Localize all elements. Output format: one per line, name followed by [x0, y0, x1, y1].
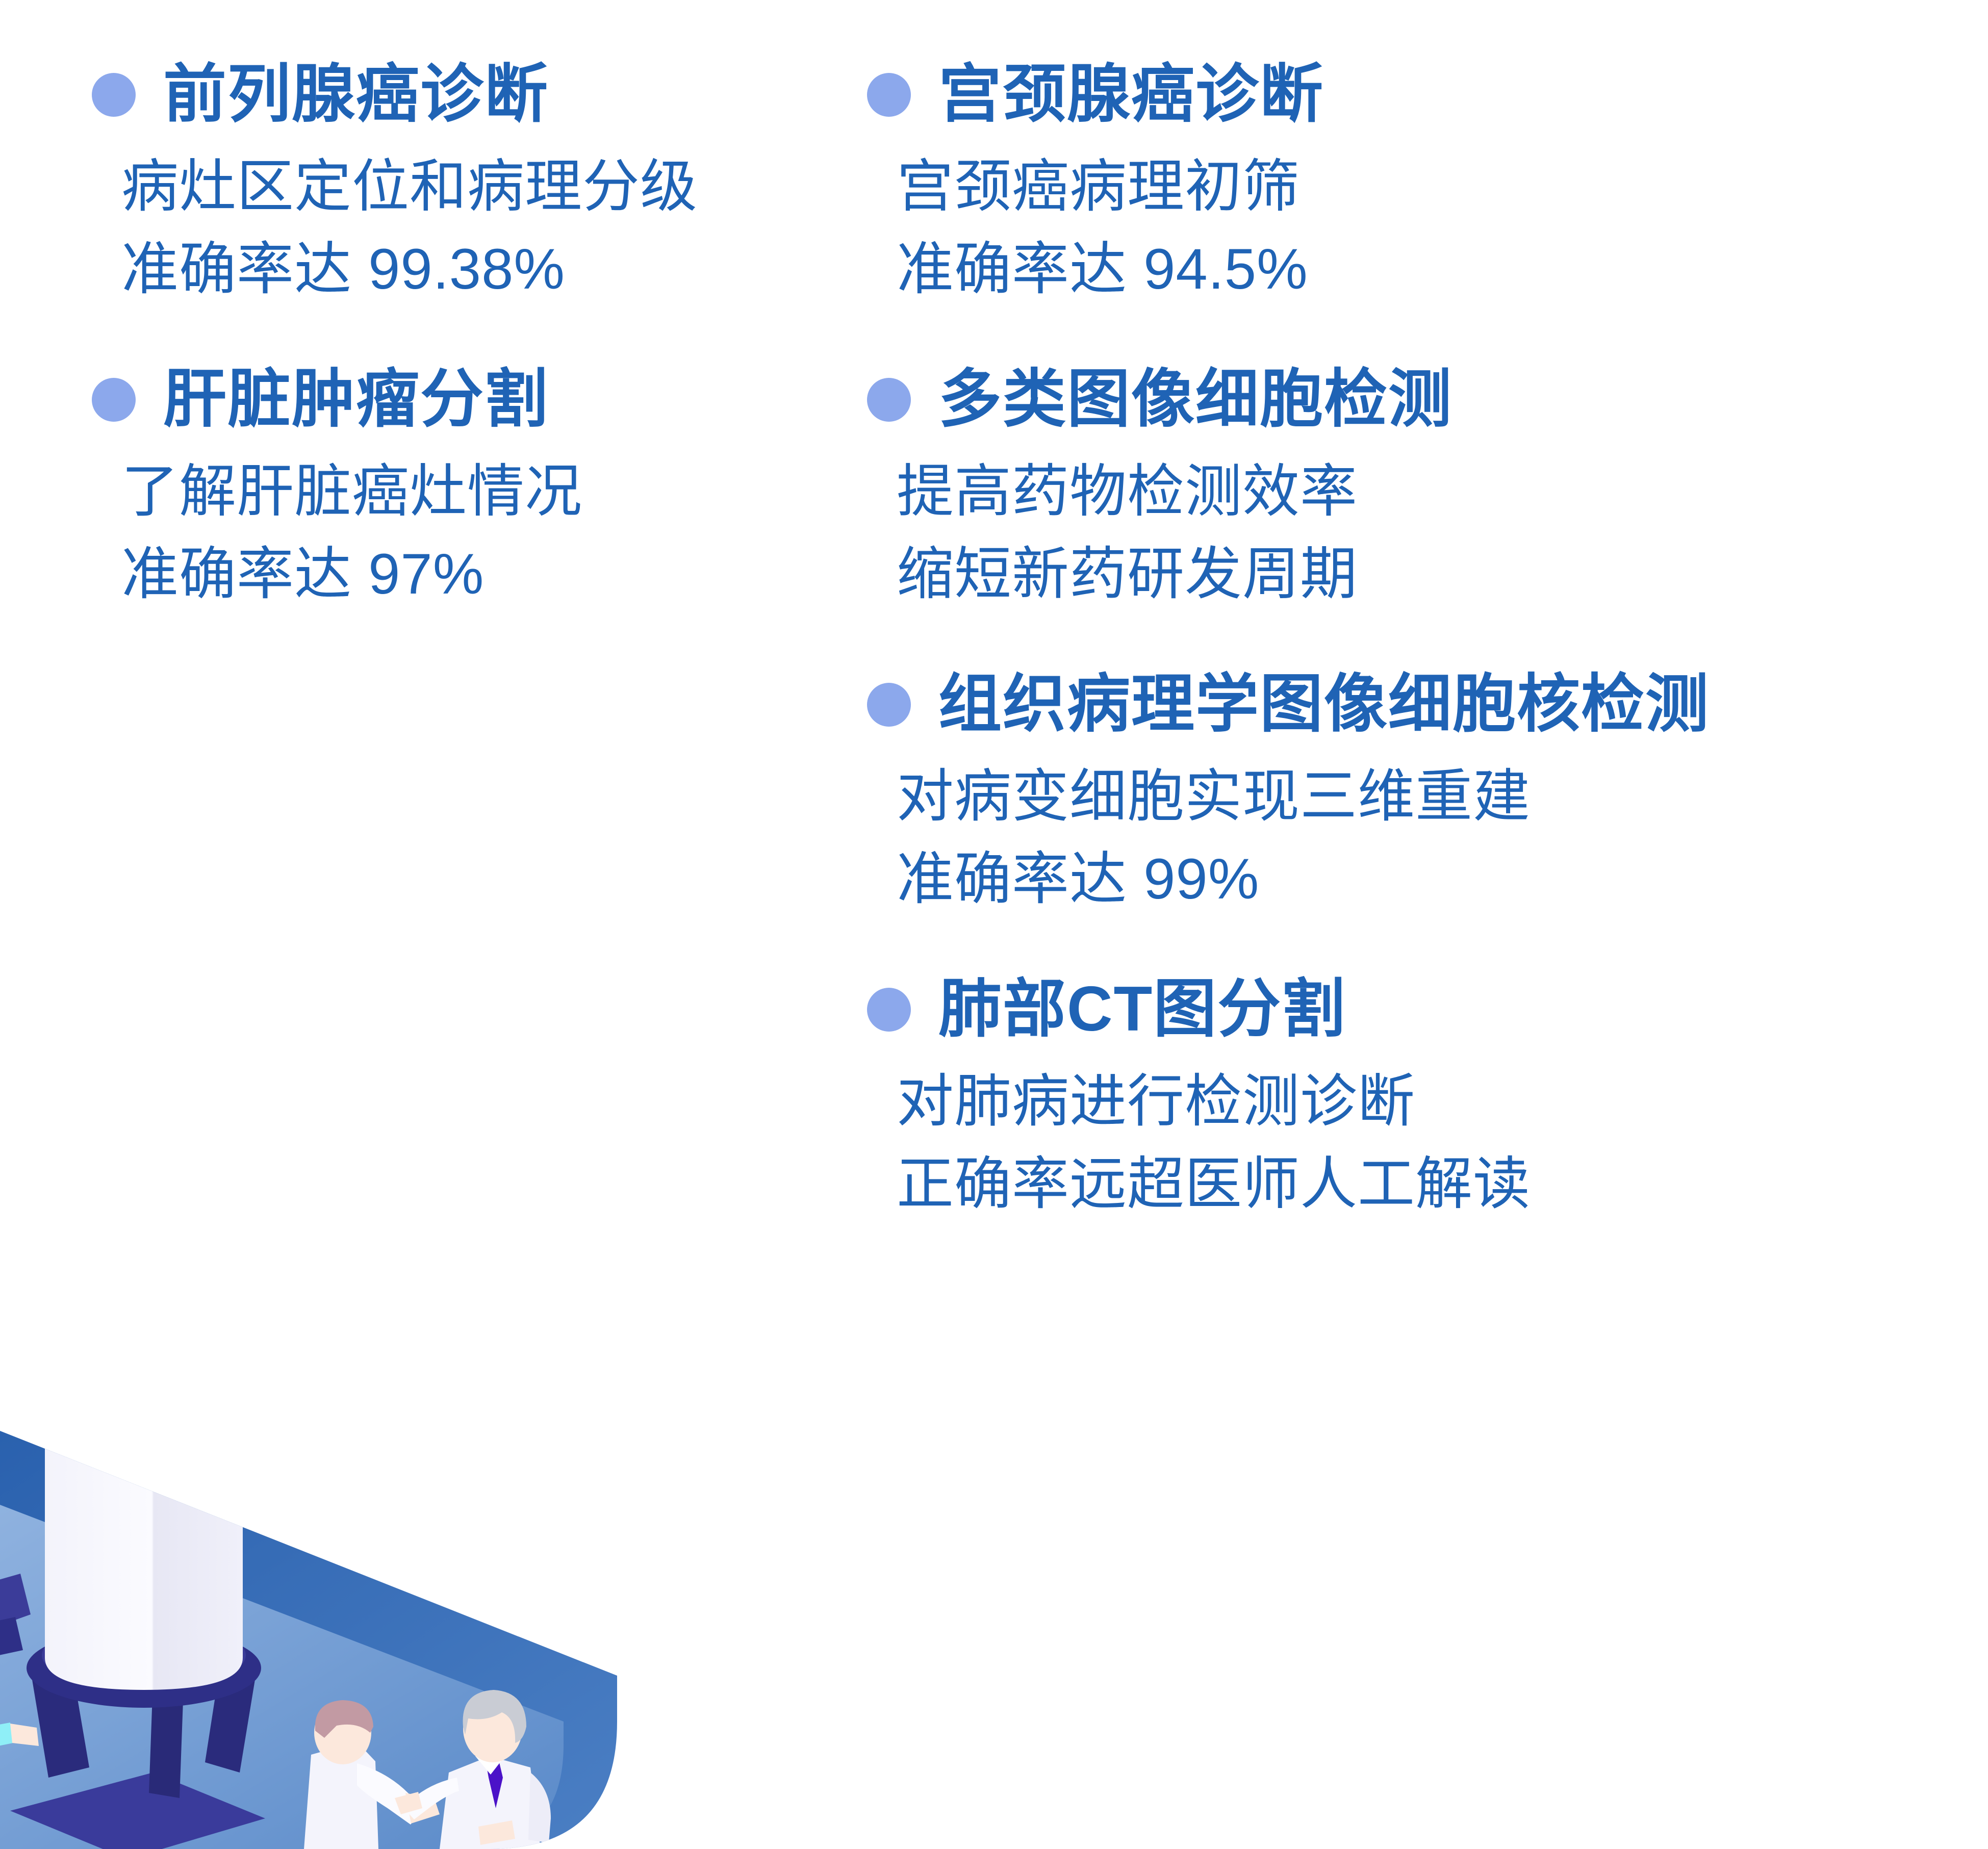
doctor-senior-hair	[463, 1690, 527, 1743]
feature-title: 肺部CT图分割	[938, 976, 1346, 1043]
doctor-senior-hand-right	[478, 1820, 515, 1845]
bullet-dot-icon	[92, 378, 136, 422]
feature-block-prostate: 前列腺癌诊断 病灶区定位和病理分级 准确率达 99.38%	[92, 61, 887, 310]
feature-head: 组织病理学图像细胞核检测	[867, 671, 1979, 738]
microscope-base-plate	[10, 1773, 265, 1849]
angled-blue-panel	[0, 1431, 617, 1849]
bullet-dot-icon	[867, 988, 911, 1032]
panel-light-face	[0, 1505, 564, 1849]
microscope-flange-side	[37, 1327, 251, 1392]
feature-lines: 了解肝脏癌灶情况 准确率达 97%	[121, 450, 887, 615]
feature-head: 肺部CT图分割	[867, 976, 1979, 1043]
panel-dark-band	[0, 1431, 617, 1849]
feature-title: 宫颈腺癌诊断	[938, 61, 1324, 128]
doctor-senior	[395, 1690, 551, 1849]
feature-lines: 对肺病进行检测诊断 正确率远超医师人工解读	[897, 1060, 1979, 1225]
doctor-senior-arm-right	[528, 1773, 551, 1843]
feature-line: 病灶区定位和病理分级	[121, 145, 887, 227]
feature-title: 前列腺癌诊断	[163, 61, 549, 128]
feature-line: 准确率达 97%	[121, 533, 887, 615]
feature-line: 了解肝脏癌灶情况	[121, 450, 887, 532]
doctor-junior-head	[314, 1701, 371, 1764]
feature-line: 正确率远超医师人工解读	[897, 1143, 1979, 1225]
bullet-dot-icon	[867, 378, 911, 422]
feature-title: 多类图像细胞检测	[938, 366, 1452, 433]
feature-block-multiclass-cell: 多类图像细胞检测 提高药物检测效率 缩短新药研发周期	[867, 366, 1979, 615]
doctor-senior-head	[463, 1695, 522, 1762]
feature-line: 提高药物检测效率	[897, 450, 1979, 532]
doctor-junior-hand	[405, 1793, 440, 1824]
microscope	[0, 1109, 265, 1849]
feature-line: 宫颈癌病理初筛	[897, 145, 1979, 227]
microscope-eyepiece-lens	[79, 1117, 209, 1163]
feature-head: 宫颈腺癌诊断	[867, 61, 1979, 128]
feature-block-histopathology-nucleus: 组织病理学图像细胞核检测 对病变细胞实现三维重建 准确率达 99%	[867, 671, 1979, 920]
bullet-dot-icon	[867, 683, 911, 727]
doctor-senior-coat	[440, 1756, 541, 1849]
feature-lines: 病灶区定位和病理分级 准确率达 99.38%	[121, 145, 887, 310]
feature-line: 准确率达 99.38%	[121, 228, 887, 310]
bullet-dot-icon	[92, 73, 136, 117]
feature-head: 肝脏肿瘤分割	[92, 366, 887, 433]
hand-on-slide	[10, 1724, 39, 1746]
feature-block-liver: 肝脏肿瘤分割 了解肝脏癌灶情况 准确率达 97%	[92, 366, 887, 615]
feature-title: 组织病理学图像细胞核检测	[938, 671, 1710, 738]
microscope-knob	[0, 1574, 31, 1627]
doctor-junior-coat	[304, 1742, 378, 1849]
microscope-knob-lower	[0, 1617, 23, 1658]
doctor-junior	[304, 1700, 440, 1849]
feature-title: 肝脏肿瘤分割	[163, 366, 549, 433]
doctor-senior-collar	[475, 1751, 505, 1775]
feature-head: 前列腺癌诊断	[92, 61, 887, 128]
feature-line: 对肺病进行检测诊断	[897, 1060, 1979, 1142]
feature-lines: 对病变细胞实现三维重建 准确率达 99%	[897, 755, 1979, 920]
microscope-collar-top	[42, 1622, 246, 1689]
microscope-body	[45, 1364, 243, 1690]
microscope-eyepiece-tube	[56, 1140, 232, 1368]
doctor-junior-hair	[315, 1700, 373, 1738]
feature-lines: 宫颈癌病理初筛 准确率达 94.5%	[897, 145, 1979, 310]
feature-column-right: 宫颈腺癌诊断 宫颈癌病理初筛 准确率达 94.5% 多类图像细胞检测 提高药物检…	[867, 61, 1979, 1281]
doctor-junior-arm	[357, 1763, 423, 1825]
feature-block-cervical: 宫颈腺癌诊断 宫颈癌病理初筛 准确率达 94.5%	[867, 61, 1979, 310]
microscope-leg-right	[205, 1671, 255, 1773]
feature-block-lung-ct: 肺部CT图分割 对肺病进行检测诊断 正确率远超医师人工解读	[867, 976, 1979, 1225]
doctor-senior-arm-pointing	[403, 1778, 459, 1819]
microscope-leg-center	[149, 1681, 184, 1798]
microscope-flange	[37, 1317, 251, 1392]
microscope-arm	[0, 1355, 46, 1415]
feature-line: 准确率达 94.5%	[897, 228, 1979, 310]
bullet-dot-icon	[867, 73, 911, 117]
feature-column-left: 前列腺癌诊断 病灶区定位和病理分级 准确率达 99.38% 肝脏肿瘤分割 了解肝…	[92, 61, 887, 671]
feature-lines: 提高药物检测效率 缩短新药研发周期	[897, 450, 1979, 615]
corner-illustration	[0, 1043, 663, 1849]
feature-line: 对病变细胞实现三维重建	[897, 755, 1979, 837]
doctor-senior-tie	[486, 1760, 503, 1808]
microscope-slide	[0, 1723, 13, 1753]
microscope-eyepiece-rim	[56, 1109, 232, 1172]
feature-line: 缩短新药研发周期	[897, 533, 1979, 615]
microscope-collar	[27, 1628, 261, 1708]
feature-line: 准确率达 99%	[897, 838, 1979, 920]
microscope-leg-left	[31, 1663, 89, 1778]
feature-head: 多类图像细胞检测	[867, 366, 1979, 433]
doctor-senior-hand-pointing	[395, 1792, 422, 1814]
